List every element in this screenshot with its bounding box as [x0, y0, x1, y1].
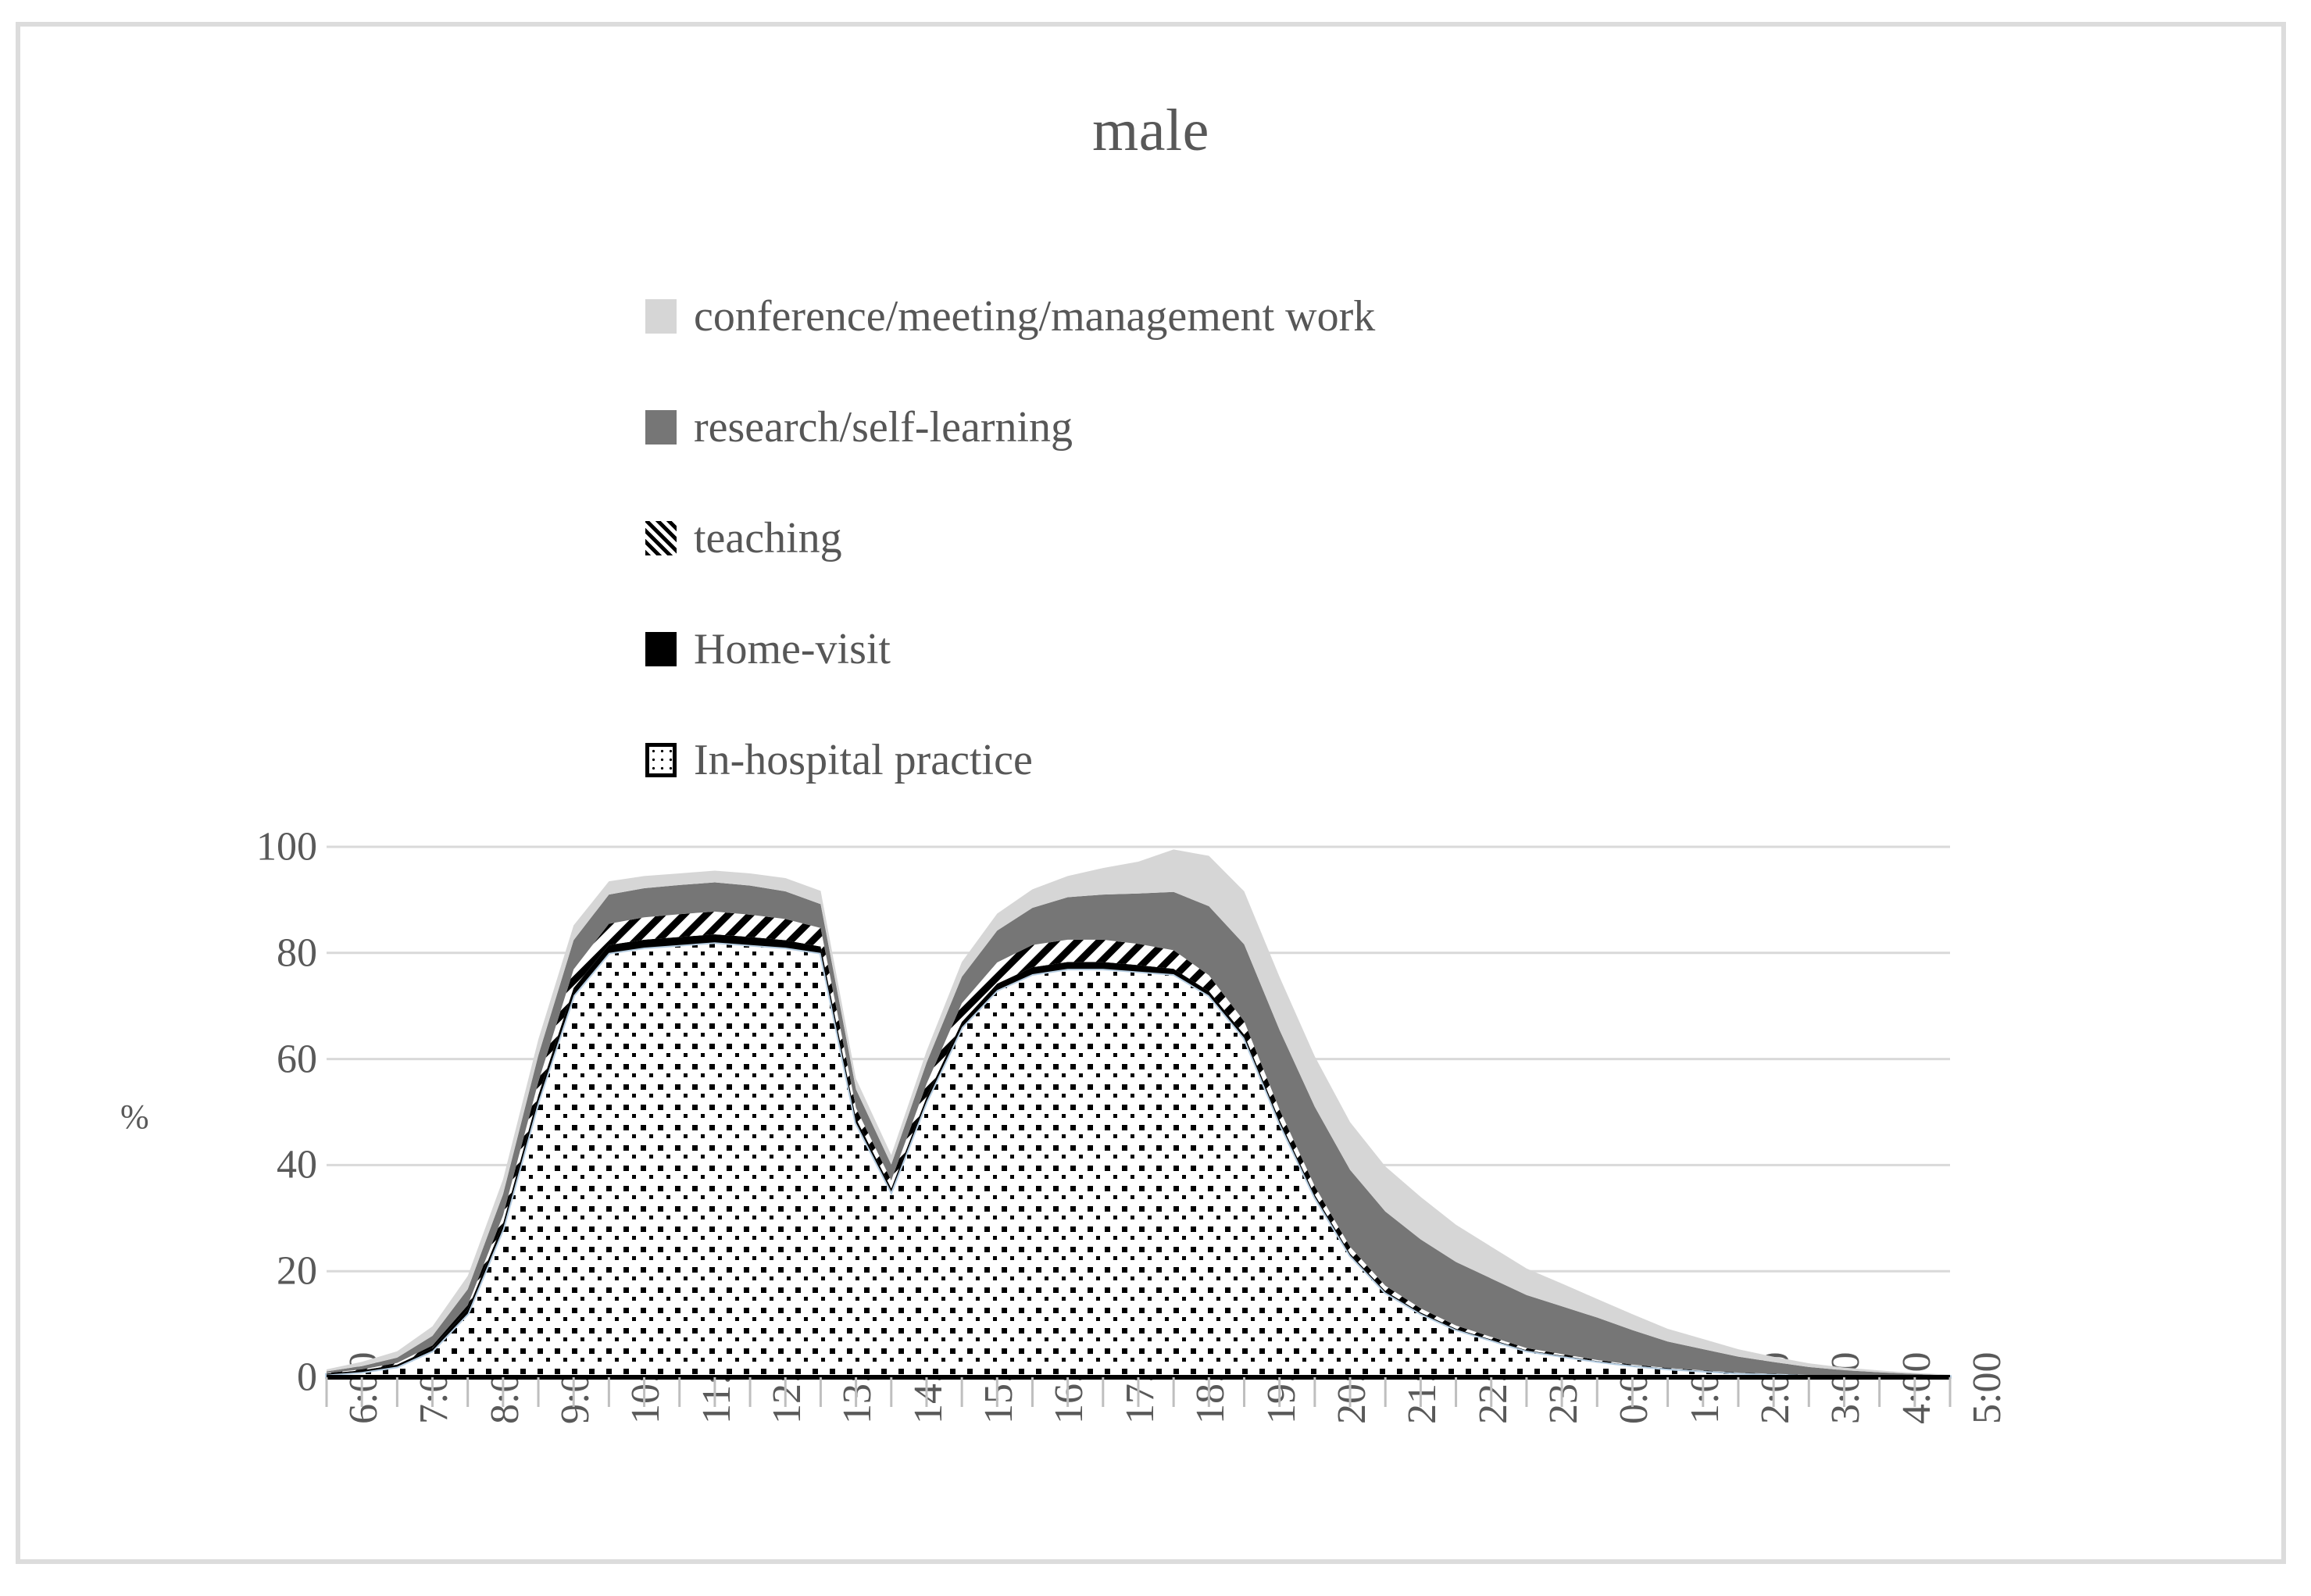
plot-area: 100806040200 6:007:008:009:0010:0011:001…	[20, 27, 2281, 1559]
stacked-area-plot	[20, 27, 2291, 1569]
chart-frame: male conference/meeting/management work …	[16, 22, 2286, 1564]
area-series-in-hospital-practice	[327, 942, 1950, 1377]
